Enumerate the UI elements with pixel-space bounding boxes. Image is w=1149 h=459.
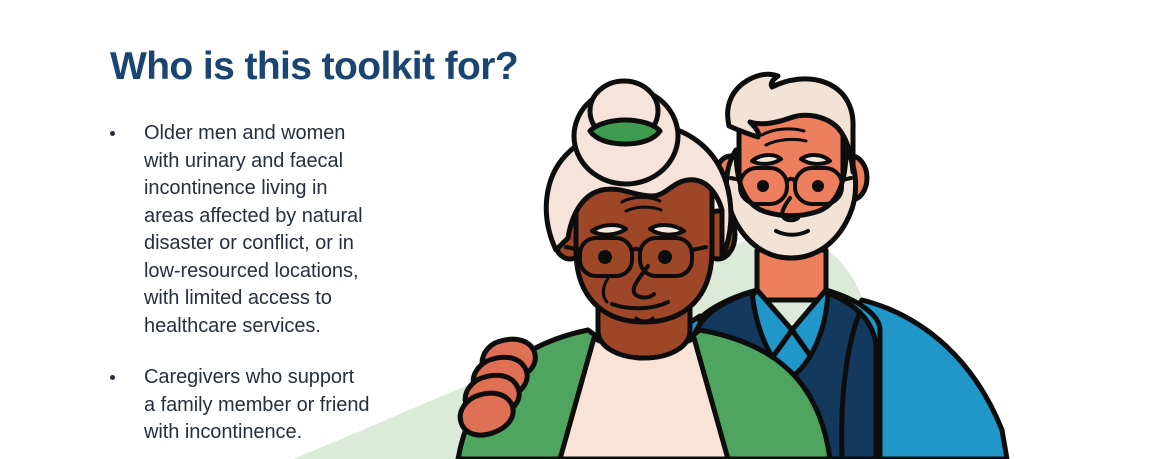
man-eyelid-right: [801, 155, 830, 164]
bullet-dot-icon: [110, 375, 115, 380]
woman-pupil-right: [658, 250, 672, 264]
list-item-label: Caregivers who support a family member o…: [144, 364, 424, 447]
woman-eyelid-left: [592, 225, 626, 235]
list-item: Caregivers who support a family member o…: [104, 364, 424, 447]
list-item-label: Older men and women with urinary and fae…: [144, 120, 424, 340]
text-column: Who is this toolkit for? Older men and w…: [0, 0, 430, 459]
audience-bullet-list: Older men and women with urinary and fae…: [104, 120, 424, 459]
woman-pupil-left: [598, 250, 612, 264]
finger-4: [460, 393, 513, 435]
man-pupil-right: [812, 180, 824, 192]
man-eyelid-left: [752, 155, 781, 164]
woman-hairtie: [590, 120, 660, 144]
slide-canvas: Who is this toolkit for? Older men and w…: [0, 0, 1149, 459]
man-pupil-left: [757, 180, 769, 192]
bullet-dot-icon: [110, 131, 115, 136]
woman-eyelid-right: [650, 225, 684, 235]
list-item: Older men and women with urinary and fae…: [104, 120, 424, 340]
page-title: Who is this toolkit for?: [110, 45, 518, 89]
